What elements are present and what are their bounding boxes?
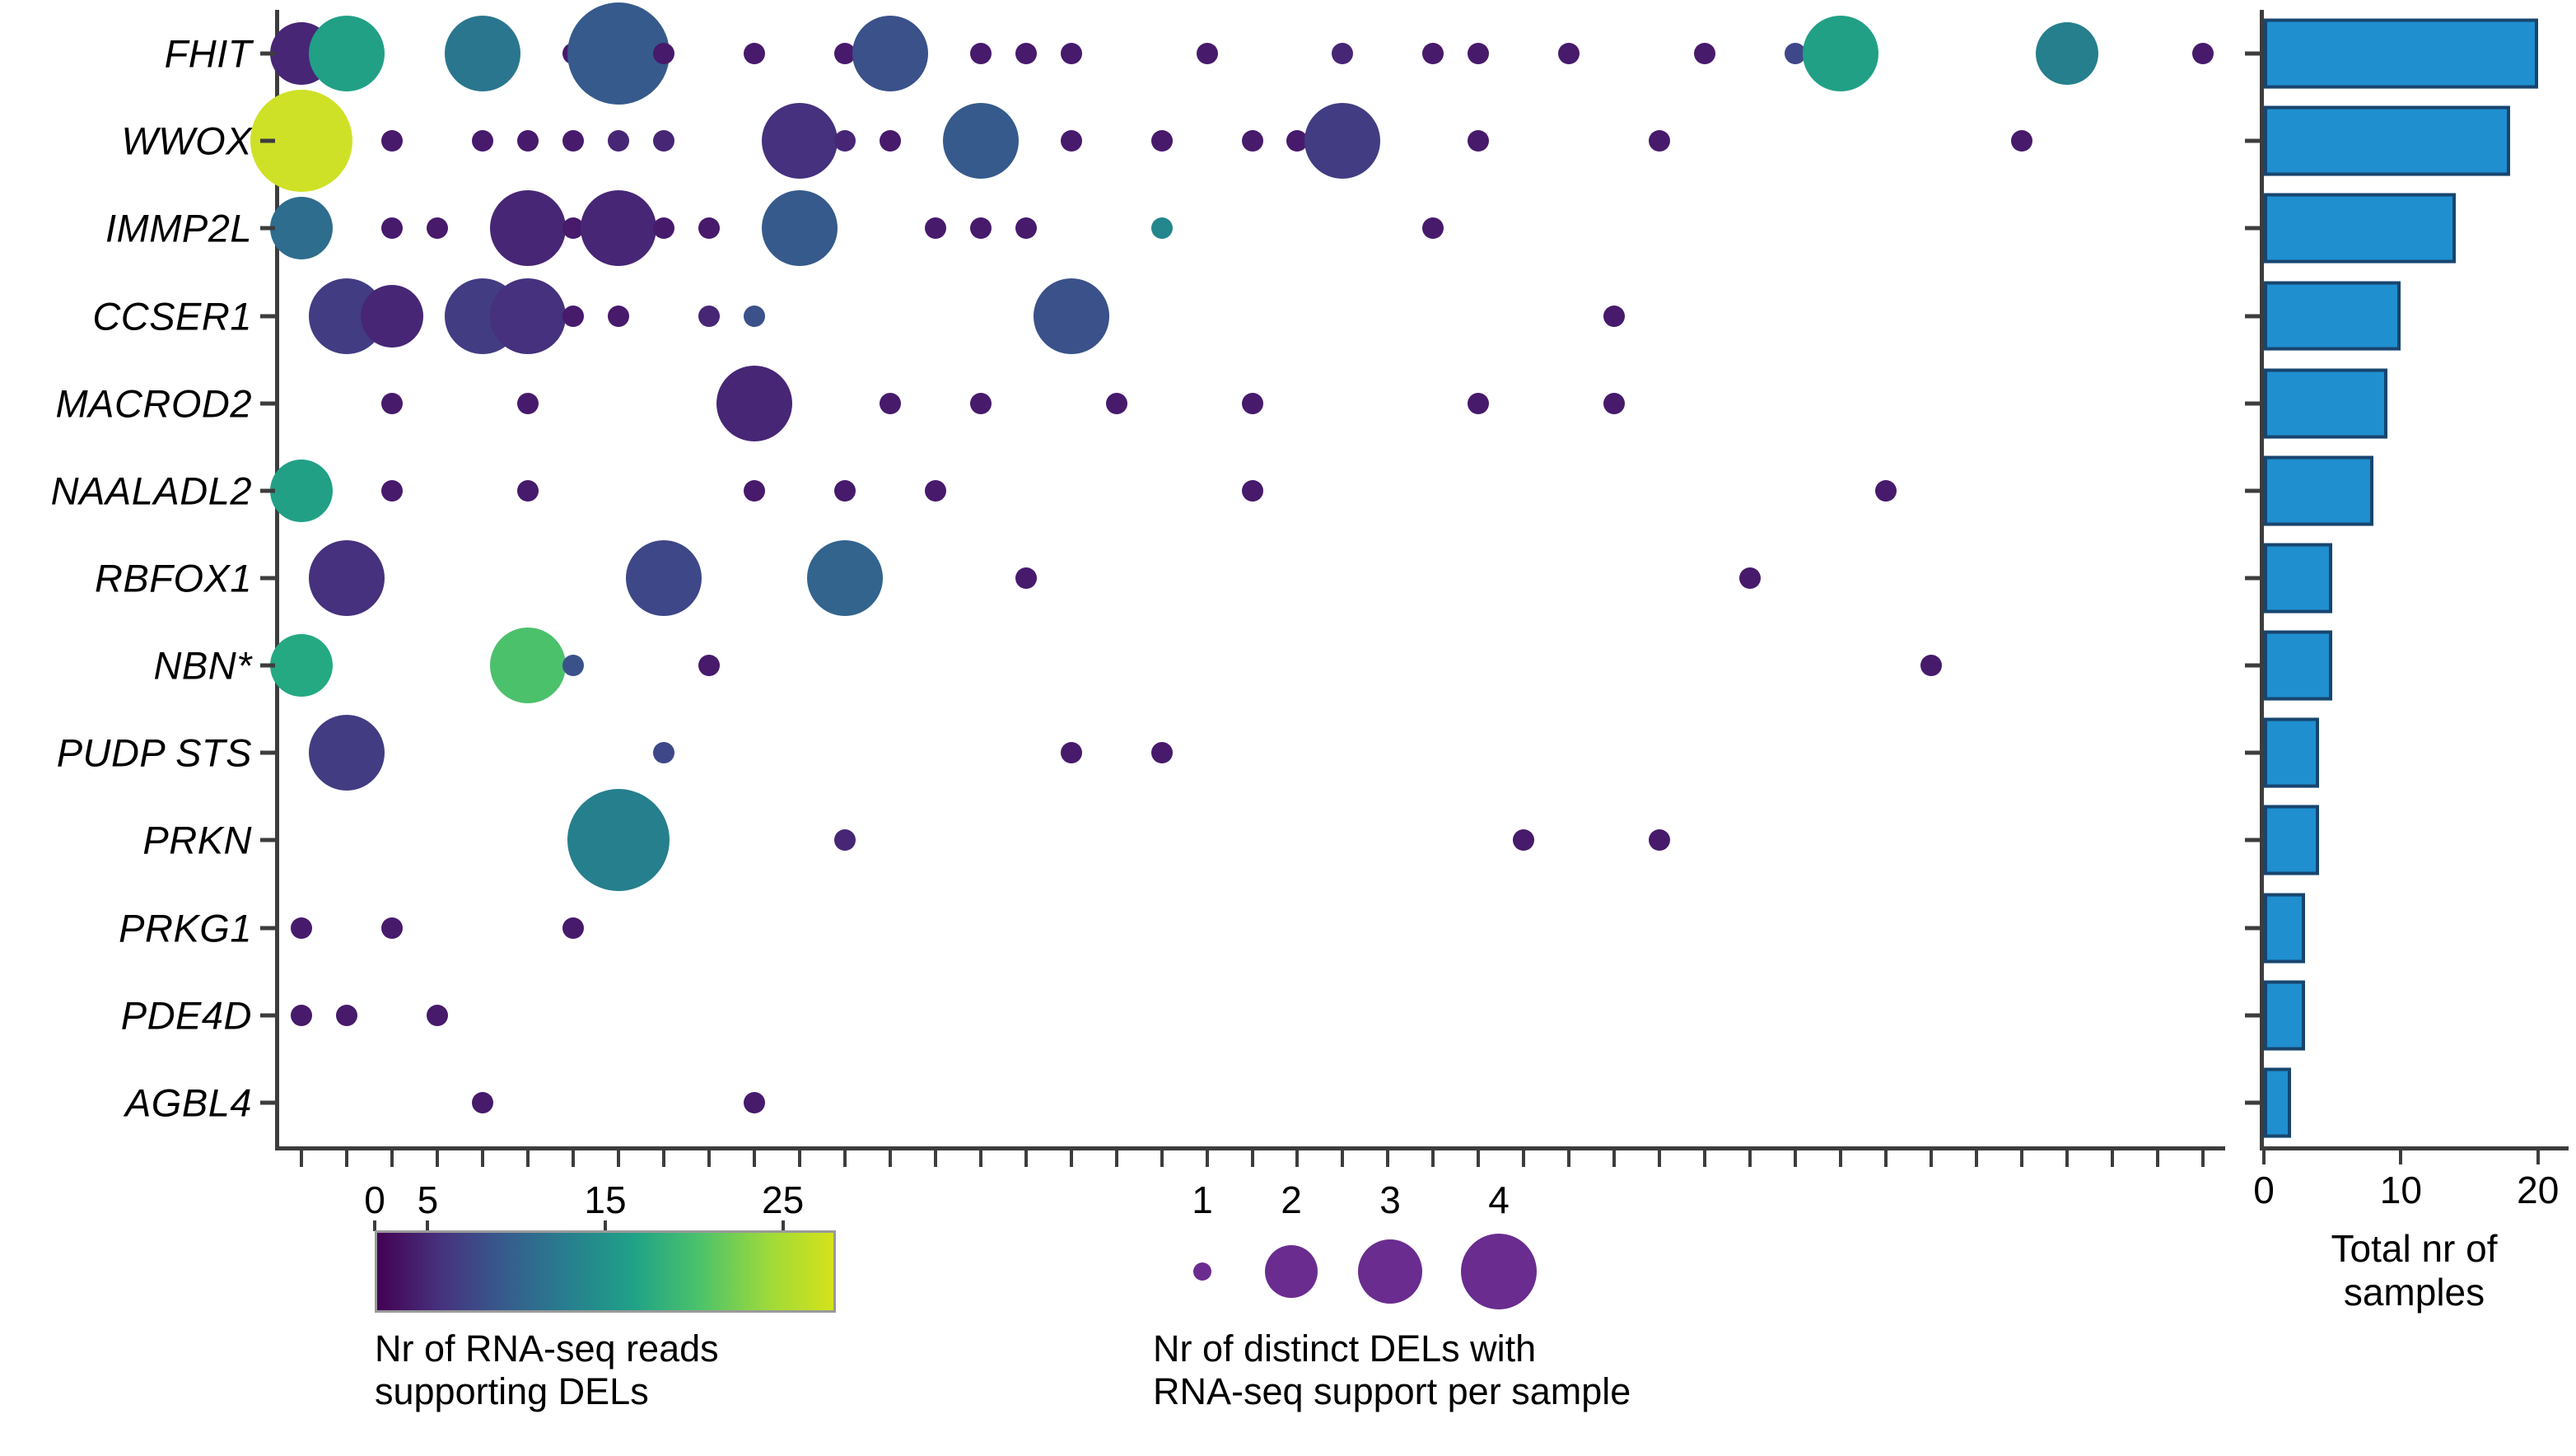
bar-x-axis-tick (2399, 1150, 2402, 1164)
x-axis-tick (2065, 1150, 2069, 1167)
bubble-marker (698, 655, 720, 676)
y-axis-tick (260, 488, 275, 492)
x-axis-tick (1431, 1150, 1435, 1167)
x-axis-tick (662, 1150, 665, 1167)
bubble-marker (309, 715, 385, 791)
bubble-marker (744, 306, 765, 327)
bubble-marker (562, 917, 584, 939)
gene-label-fhit: FHIT (165, 31, 252, 77)
bubble-marker (309, 540, 385, 616)
bubble-marker (567, 789, 670, 891)
x-axis-tick (2156, 1150, 2159, 1167)
bubble-marker (490, 628, 566, 703)
bar-x-axis-tick (2262, 1150, 2266, 1164)
bubble-marker (490, 190, 566, 266)
x-axis-tick (1975, 1150, 1978, 1167)
bubble-marker (1151, 130, 1173, 152)
bar-y-axis-tick (2245, 488, 2260, 492)
bar-y-axis-tick (2245, 1100, 2260, 1104)
bubble-marker (336, 1005, 357, 1026)
y-axis-tick (260, 664, 275, 668)
bubble-marker (1603, 393, 1625, 414)
bubble-marker (834, 829, 856, 851)
y-axis-tick (260, 926, 275, 930)
bubble-marker (517, 480, 539, 502)
bar-x-axis-label: 20 (2517, 1168, 2559, 1212)
size-legend-value-2: 2 (1281, 1178, 1302, 1222)
bubble-marker (562, 130, 584, 152)
bar-axis-title: Total nr of samples (2260, 1227, 2569, 1315)
bubble-marker (270, 460, 333, 522)
x-axis-tick (1386, 1150, 1389, 1167)
bar-immp2l (2264, 194, 2456, 264)
bubble-marker (2192, 43, 2214, 64)
bubble-marker (1468, 43, 1489, 64)
bubble-marker (1803, 16, 1878, 91)
bubble-marker (2011, 130, 2032, 152)
x-axis-tick (1884, 1150, 1888, 1167)
bubble-marker (490, 278, 566, 354)
bubble-marker (807, 540, 883, 616)
x-axis-tick (1070, 1150, 1073, 1167)
x-axis-tick (1477, 1150, 1480, 1167)
bubble-marker (361, 285, 423, 348)
gene-label-rbfox1: RBFOX1 (95, 556, 252, 601)
x-axis-tick (1341, 1150, 1344, 1167)
x-axis-tick (1115, 1150, 1118, 1167)
y-axis-tick (260, 1100, 275, 1104)
x-axis-tick (1024, 1150, 1028, 1167)
bubble-marker (653, 217, 674, 239)
bubble-marker (1242, 130, 1263, 152)
bubble-marker (1151, 217, 1173, 239)
size-legend-value-1: 1 (1192, 1178, 1213, 1222)
bar-naaladl2 (2264, 455, 2373, 525)
color-legend-ticklabels: 051525 (375, 1178, 836, 1220)
x-axis-tick (2020, 1150, 2023, 1167)
bar-rbfox1 (2264, 544, 2332, 614)
color-legend-caption: Nr of RNA-seq reads supporting DELs (375, 1328, 836, 1413)
x-axis-tick (753, 1150, 756, 1167)
color-legend-tick-label: 15 (584, 1178, 626, 1222)
bar-y-axis-tick (2245, 576, 2260, 581)
x-axis-tick (979, 1150, 982, 1167)
x-axis-tick (526, 1150, 530, 1167)
x-axis-tick (1567, 1150, 1570, 1167)
x-axis-tick (1658, 1150, 1661, 1167)
gene-label-pudpsts: PUDP STS (57, 730, 252, 776)
bubble-marker (880, 393, 901, 414)
bubble-marker (626, 540, 702, 616)
bubble-plot-panel: FHITWWOXIMMP2LCCSER1MACROD2NAALADL2RBFOX… (0, 0, 2224, 1186)
x-axis-tick (1794, 1150, 1797, 1167)
bubble-marker (1034, 278, 1109, 354)
bar-agbl4 (2264, 1067, 2291, 1137)
bubble-marker (291, 917, 312, 939)
x-axis-tick (1612, 1150, 1616, 1167)
bubble-marker (970, 217, 992, 239)
gene-label-macrod2: MACROD2 (55, 380, 252, 426)
bubble-marker (381, 217, 403, 239)
gene-label-prkn: PRKN (142, 818, 252, 863)
x-axis-tick (390, 1150, 394, 1167)
bar-x-axis-label: 10 (2380, 1168, 2422, 1212)
bar-y-axis-tick (2245, 838, 2260, 842)
x-axis-tick (617, 1150, 620, 1167)
x-axis-tick (1522, 1150, 1525, 1167)
bubble-marker (1468, 130, 1489, 152)
x-axis-tick (1748, 1150, 1752, 1167)
size-legend-value-4: 4 (1488, 1178, 1510, 1222)
gene-label-pde4d: PDE4D (121, 992, 252, 1038)
bar-y-axis-tick (2245, 664, 2260, 668)
bubble-marker (653, 742, 674, 763)
bubble-marker (472, 1092, 493, 1113)
bubble-marker (381, 393, 403, 414)
y-axis-tick (260, 838, 275, 842)
bar-y-axis-tick (2245, 751, 2260, 755)
bubble-marker (1603, 306, 1625, 327)
bar-x-axis-tick (2536, 1150, 2540, 1164)
bar-y-axis-tick (2245, 226, 2260, 231)
bar-y-axis-tick (2245, 52, 2260, 56)
bubble-marker (1197, 43, 1218, 64)
bubble-marker (744, 480, 765, 502)
bubble-marker (1875, 480, 1897, 502)
color-legend-tick-label: 25 (762, 1178, 804, 1222)
y-axis-tick (260, 576, 275, 581)
bubble-marker (762, 103, 838, 179)
bubble-marker (381, 917, 403, 939)
bar-fhit (2264, 19, 2538, 89)
bubble-marker (1015, 43, 1037, 64)
bubble-marker (1513, 829, 1534, 851)
bubble-marker (925, 217, 946, 239)
bubble-marker (427, 217, 448, 239)
bubble-marker (1106, 393, 1127, 414)
bubble-marker (472, 130, 493, 152)
bubble-marker (1332, 43, 1353, 64)
bar-x-axis-label: 0 (2253, 1168, 2275, 1212)
x-axis-tick (345, 1150, 348, 1167)
gene-label-wwox: WWOX (121, 119, 252, 164)
bubble-marker (970, 393, 992, 414)
size-legend-dot (1358, 1239, 1422, 1304)
x-axis-tick (2201, 1150, 2205, 1167)
bubble-marker (1061, 130, 1082, 152)
figure-root: FHITWWOXIMMP2LCCSER1MACROD2NAALADL2RBFOX… (0, 0, 2576, 1456)
bubble-marker (608, 306, 629, 327)
x-axis-tick (1839, 1150, 1842, 1167)
bubble-marker (1242, 480, 1263, 502)
gene-label-ccser1: CCSER1 (92, 293, 252, 338)
bar-nbn (2264, 631, 2332, 701)
bubble-marker (1739, 567, 1761, 589)
color-legend: 051525 Nr of RNA-seq reads supporting DE… (375, 1178, 836, 1449)
bar-ccser1 (2264, 281, 2401, 351)
x-axis-tick (1251, 1150, 1254, 1167)
bubble-marker (1304, 103, 1380, 179)
x-axis-tick (707, 1150, 711, 1167)
bubble-plot-area (279, 10, 2225, 1146)
x-axis-tick (436, 1150, 439, 1167)
bubble-marker (653, 130, 674, 152)
x-axis-tick (481, 1150, 484, 1167)
bubble-marker (943, 103, 1019, 179)
bubble-marker (1242, 393, 1263, 414)
colorbar-gradient (375, 1230, 836, 1313)
bubble-marker (1649, 130, 1670, 152)
x-axis-tick (1206, 1150, 1209, 1167)
x-axis-tick (843, 1150, 847, 1167)
x-axis-tick (1295, 1150, 1299, 1167)
bar-pudpsts (2264, 718, 2319, 788)
x-axis-tick (1160, 1150, 1164, 1167)
bar-y-axis-tick (2245, 926, 2260, 930)
bubble-marker (1422, 43, 1444, 64)
x-axis-tick (1703, 1150, 1706, 1167)
bubble-marker (970, 43, 992, 64)
bubble-marker (1694, 43, 1715, 64)
bubble-marker (562, 655, 584, 676)
bubble-marker (517, 393, 539, 414)
bar-wwox (2264, 106, 2510, 176)
bubble-marker (2036, 22, 2098, 85)
bubble-marker (562, 306, 584, 327)
bubble-marker (925, 480, 946, 502)
gene-axis-labels: FHITWWOXIMMP2LCCSER1MACROD2NAALADL2RBFOX… (0, 0, 264, 1104)
y-axis-tick (260, 226, 275, 231)
bubble-marker (698, 306, 720, 327)
bubble-marker (834, 480, 856, 502)
y-axis-tick (260, 139, 275, 143)
size-legend-dot (1265, 1245, 1318, 1298)
y-axis-tick (260, 1013, 275, 1017)
bubble-marker (744, 43, 765, 64)
bar-y-axis-tick (2245, 139, 2260, 143)
bubble-marker (270, 197, 333, 259)
bar-prkn (2264, 805, 2319, 875)
bar-prkg1 (2264, 893, 2305, 963)
size-legend-caption: Nr of distinct DELs with RNA-seq support… (1153, 1328, 1729, 1413)
bubble-marker (744, 1092, 765, 1113)
bar-macrod2 (2264, 368, 2387, 438)
bar-y-axis-tick (2245, 401, 2260, 405)
bubble-marker (852, 16, 928, 91)
bubble-marker (381, 480, 403, 502)
bubble-marker (653, 43, 674, 64)
bubble-marker (1151, 742, 1173, 763)
y-axis-tick (260, 401, 275, 405)
bubble-marker (762, 190, 838, 266)
bubble-marker (1015, 567, 1037, 589)
x-axis-tick (572, 1150, 575, 1167)
bubble-marker (381, 130, 403, 152)
x-axis-tick (1930, 1150, 1933, 1167)
bubble-marker (1015, 217, 1037, 239)
bubble-marker (581, 190, 656, 266)
x-axis-tick (934, 1150, 937, 1167)
bubble-marker (270, 634, 333, 697)
size-legend-dot (1193, 1262, 1211, 1281)
gene-label-agbl4: AGBL4 (125, 1080, 252, 1125)
bubble-marker (427, 1005, 448, 1026)
gene-label-prkg1: PRKG1 (119, 905, 252, 950)
y-axis-tick (260, 751, 275, 755)
bar-y-axis-tick (2245, 314, 2260, 318)
bubble-marker (716, 366, 792, 441)
bubble-marker (1061, 43, 1082, 64)
gene-label-nbn: NBN* (153, 643, 252, 688)
bubble-marker (291, 1005, 312, 1026)
bubble-marker (1468, 393, 1489, 414)
y-axis-tick (260, 52, 275, 56)
gene-label-immp2l: IMMP2L (105, 206, 252, 251)
color-legend-tick-label: 5 (418, 1178, 439, 1222)
size-legend-value-3: 3 (1379, 1178, 1401, 1222)
color-legend-tick-label: 0 (364, 1178, 385, 1222)
bubble-marker (1558, 43, 1580, 64)
bubble-marker (309, 16, 385, 91)
bubble-marker (834, 130, 856, 152)
x-axis-tick (2111, 1150, 2114, 1167)
bar-x-axis-line (2260, 1146, 2569, 1150)
size-legend-dot (1461, 1234, 1537, 1309)
bubble-marker (517, 130, 539, 152)
bubble-marker (698, 217, 720, 239)
x-axis-tick (300, 1150, 303, 1167)
bubble-marker (1422, 217, 1444, 239)
y-axis-tick (260, 314, 275, 318)
bar-y-axis-tick (2245, 1013, 2260, 1017)
bar-chart-panel: Total nr of samples 01020 (2224, 0, 2576, 1456)
bubble-marker (1920, 655, 1942, 676)
bubble-marker (880, 130, 901, 152)
bubble-marker (1649, 829, 1670, 851)
bubble-marker (445, 16, 520, 91)
gene-label-naaladl2: NAALADL2 (51, 468, 252, 513)
bar-pde4d (2264, 980, 2305, 1050)
bubble-marker (1061, 742, 1082, 763)
bubble-marker (608, 130, 629, 152)
x-axis-tick (798, 1150, 801, 1167)
x-axis-tick (889, 1150, 892, 1167)
